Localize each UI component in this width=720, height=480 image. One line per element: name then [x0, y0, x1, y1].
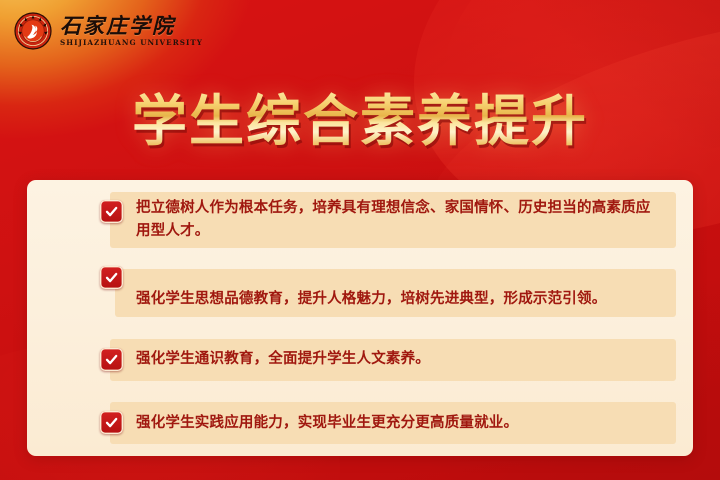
list-item-text: 强化学生实践应用能力，实现毕业生更充分更高质量就业。: [136, 412, 518, 435]
page-title: 学生综合素养提升: [132, 76, 588, 156]
list-item-text: 强化学生思想品德教育，提升人格魅力，培树先进典型，形成示范引领。: [136, 288, 606, 311]
logo-name-cn: 石家庄学院: [60, 15, 203, 36]
list-item: 强化学生通识教育，全面提升学生人文素养。: [45, 339, 675, 381]
checkmark-icon[interactable]: [100, 200, 123, 223]
university-crest-icon: [14, 12, 52, 50]
checkmark-icon[interactable]: [100, 411, 123, 434]
page-title-container: 学生综合素养提升: [0, 76, 720, 156]
list-item: 强化学生实践应用能力，实现毕业生更充分更高质量就业。: [45, 402, 675, 444]
poster-canvas: 石家庄学院 SHIJIAZHUANG UNIVERSITY 学生综合素养提升 把…: [0, 0, 720, 480]
checkmark-icon[interactable]: [100, 348, 123, 371]
list-item: 把立德树人作为根本任务，培养具有理想信念、家国情怀、历史担当的高素质应用型人才。: [45, 192, 675, 248]
content-card: 把立德树人作为根本任务，培养具有理想信念、家国情怀、历史担当的高素质应用型人才。…: [27, 180, 693, 456]
checkmark-icon[interactable]: [100, 266, 123, 289]
list-item-text: 强化学生通识教育，全面提升学生人文素养。: [136, 348, 430, 371]
university-logo: 石家庄学院 SHIJIAZHUANG UNIVERSITY: [14, 12, 203, 50]
list-item: 强化学生思想品德教育，提升人格魅力，培树先进典型，形成示范引领。: [45, 269, 675, 317]
list-item-text: 把立德树人作为根本任务，培养具有理想信念、家国情怀、历史担当的高素质应用型人才。: [136, 197, 661, 243]
logo-text-block: 石家庄学院 SHIJIAZHUANG UNIVERSITY: [60, 15, 203, 46]
logo-name-en: SHIJIAZHUANG UNIVERSITY: [60, 39, 203, 46]
